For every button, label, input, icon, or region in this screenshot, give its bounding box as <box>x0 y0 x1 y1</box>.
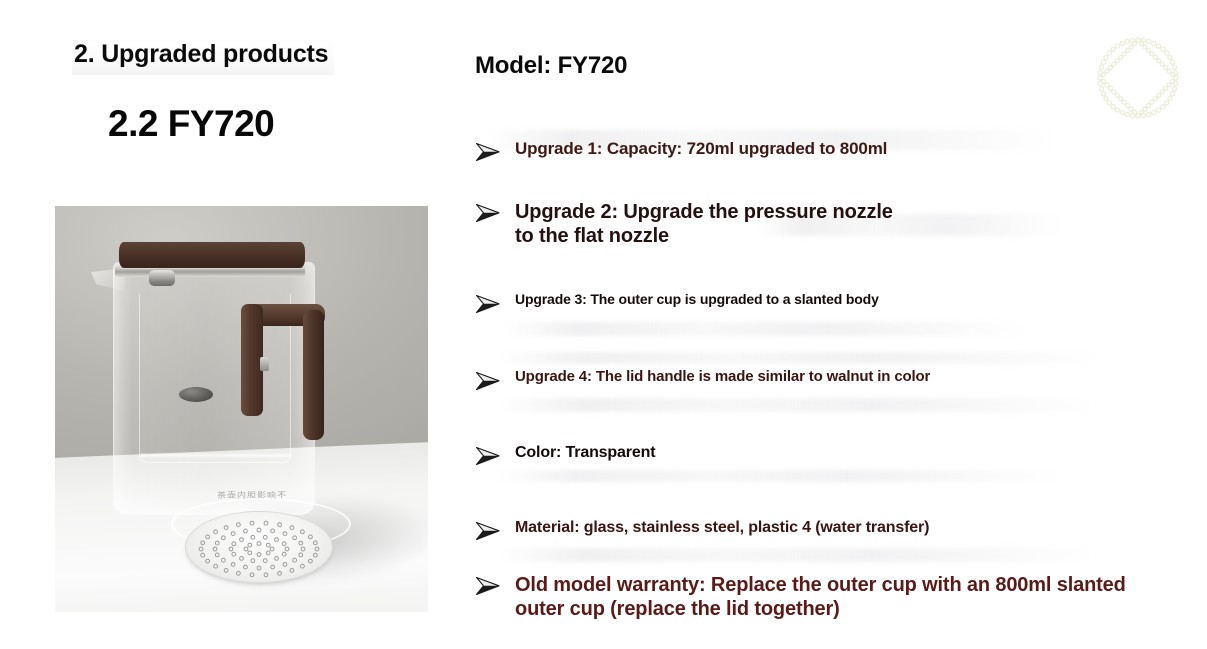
dotted-circle-diamond-logo <box>1092 32 1184 124</box>
bullet-upgrade-4: Upgrade 4: The lid handle is made simila… <box>475 368 1075 390</box>
bullet-text: Upgrade 1: Capacity: 720ml upgraded to 8… <box>515 139 1075 160</box>
section-heading: 2. Upgraded products <box>72 38 334 75</box>
filter-holes-pattern <box>185 511 333 583</box>
bullet-color: Color: Transparent <box>475 443 815 465</box>
bullet-material: Material: glass, stainless steel, plasti… <box>475 518 1095 540</box>
ghost-artifact <box>500 352 1100 364</box>
bullet-text: Old model warranty: Replace the outer cu… <box>515 573 1155 622</box>
arrow-bullet-icon <box>475 520 501 542</box>
left-column: 2. Upgraded products 2.2 FY720 <box>0 0 460 649</box>
bullet-text: Material: glass, stainless steel, plasti… <box>515 518 1095 538</box>
bullet-old-model-warranty: Old model warranty: Replace the outer cu… <box>475 573 1155 622</box>
perforated-filter-disc <box>185 511 333 583</box>
ghost-artifact <box>505 322 1025 336</box>
product-photo: 茶壶内胆影响不 <box>55 206 428 612</box>
arrow-bullet-icon <box>475 370 501 392</box>
teapot-lid <box>119 242 305 268</box>
handle-outer-post <box>303 310 324 440</box>
teapot-pressure-nozzle <box>179 387 213 402</box>
subsection-heading: 2.2 FY720 <box>108 103 274 145</box>
bullet-text: Upgrade 2: Upgrade the pressure nozzle t… <box>515 200 915 249</box>
arrow-bullet-icon <box>475 293 501 315</box>
bullet-text: Upgrade 4: The lid handle is made simila… <box>515 368 1075 386</box>
bullet-upgrade-1: Upgrade 1: Capacity: 720ml upgraded to 8… <box>475 139 1075 161</box>
teapot-handle <box>241 304 327 446</box>
ghost-artifact <box>500 398 1100 412</box>
ghost-artifact <box>500 548 1100 562</box>
arrow-bullet-icon <box>475 141 501 163</box>
bullet-text: Color: Transparent <box>515 443 815 463</box>
bullet-upgrade-2: Upgrade 2: Upgrade the pressure nozzle t… <box>475 200 915 249</box>
watermark-svg <box>1092 32 1184 124</box>
arrow-bullet-icon <box>475 202 501 224</box>
teapot-liner-bottom-line <box>139 454 291 457</box>
arrow-bullet-icon <box>475 445 501 467</box>
teapot-lid-knob <box>149 270 175 286</box>
handle-metal-clip <box>260 357 269 371</box>
bullet-upgrade-3: Upgrade 3: The outer cup is upgraded to … <box>475 291 1035 313</box>
arrow-bullet-icon <box>475 575 501 597</box>
ghost-artifact <box>500 470 1060 482</box>
slide-canvas: 2. Upgraded products 2.2 FY720 <box>0 0 1207 649</box>
model-title: Model: FY720 <box>475 52 627 80</box>
bullet-text: Upgrade 3: The outer cup is upgraded to … <box>515 291 1035 308</box>
